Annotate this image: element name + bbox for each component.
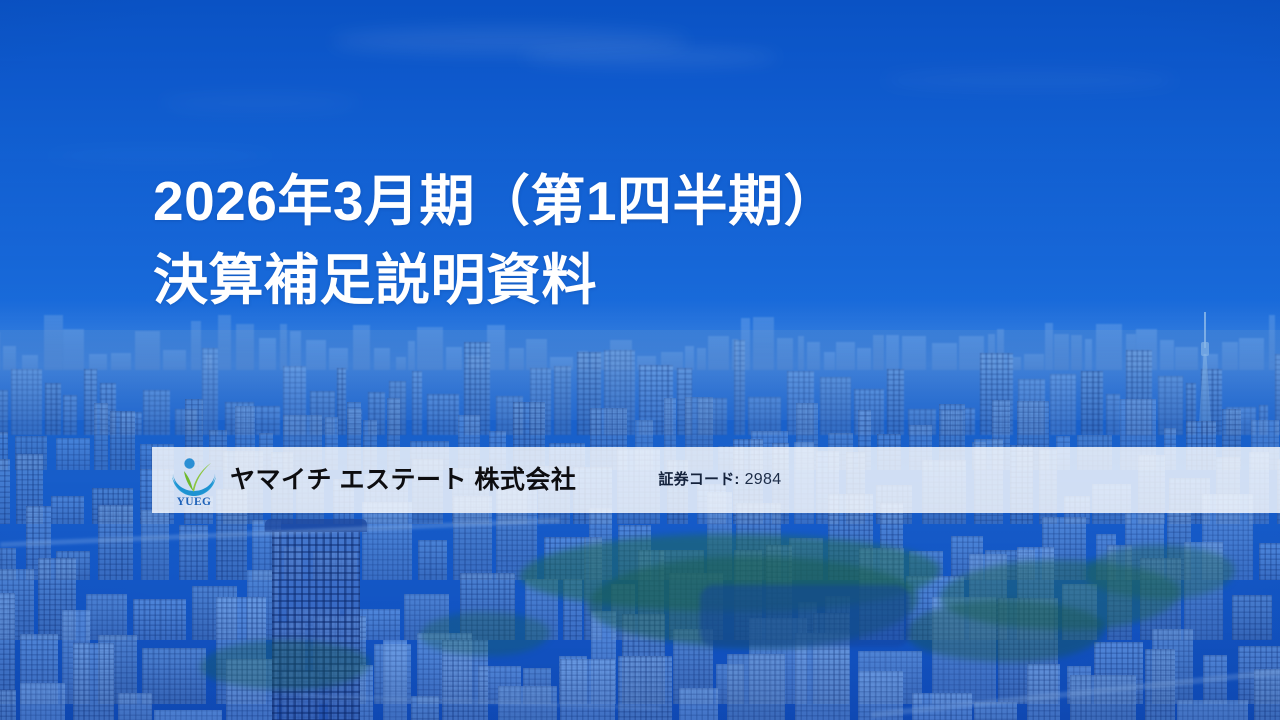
securities-code-label: 証券コード: <box>658 472 739 487</box>
building-windows <box>679 688 718 720</box>
building <box>20 683 65 720</box>
park-greenery <box>420 612 550 656</box>
building <box>362 502 412 580</box>
building <box>1232 595 1272 640</box>
building-windows <box>1259 543 1280 580</box>
building <box>94 403 108 470</box>
building-windows <box>51 496 84 524</box>
building-windows <box>418 540 447 580</box>
building-windows <box>133 599 186 640</box>
building-windows <box>1177 700 1248 720</box>
park-greenery <box>905 600 1105 662</box>
building-windows <box>56 438 90 470</box>
building-windows <box>0 459 10 524</box>
building-windows <box>86 594 127 640</box>
building <box>0 593 15 704</box>
building-windows <box>272 530 360 720</box>
cloud-wisp <box>880 70 1180 90</box>
building-windows <box>383 640 407 720</box>
background-cityscape-image <box>0 0 1280 720</box>
building-windows <box>0 593 15 704</box>
building <box>51 496 84 524</box>
building-windows <box>110 411 135 470</box>
building-windows <box>1070 675 1136 720</box>
building <box>727 654 785 720</box>
building <box>679 688 718 720</box>
park-field <box>700 585 910 647</box>
svg-text:YUEG: YUEG <box>177 496 212 508</box>
page-title: 2026年3月期（第1四半期） 決算補足説明資料 <box>153 162 1053 320</box>
building-windows <box>1232 595 1272 640</box>
building <box>1177 700 1248 720</box>
securities-code-value: 2984 <box>745 472 782 488</box>
building <box>133 599 186 640</box>
title-line-1: 2026年3月期（第1四半期） <box>153 162 1053 241</box>
building <box>73 643 114 720</box>
building-windows <box>20 683 65 720</box>
building <box>1259 543 1280 580</box>
building-windows <box>94 403 108 470</box>
building-windows <box>560 659 615 720</box>
park-greenery <box>1085 545 1235 599</box>
building-windows <box>141 510 169 580</box>
footer-band: YUEG ヤマイチ エステート 株式会社 証券コード: 2984 <box>152 447 1280 513</box>
cloud-wisp <box>160 96 360 110</box>
company-name: ヤマイチ エステート 株式会社 <box>230 468 576 493</box>
securities-code: 証券コード: 2984 <box>658 472 781 488</box>
building <box>154 710 222 720</box>
building <box>418 540 447 580</box>
title-line-2: 決算補足説明資料 <box>153 241 1053 320</box>
building <box>110 411 135 470</box>
building-windows <box>118 693 152 720</box>
building-windows <box>154 710 222 720</box>
cloud-wisp <box>40 150 280 162</box>
building <box>618 656 672 720</box>
building <box>560 659 615 720</box>
building <box>56 438 90 470</box>
building-windows <box>0 690 16 720</box>
building <box>118 693 152 720</box>
yueg-logo: YUEG <box>166 452 222 508</box>
building <box>383 640 407 720</box>
building-windows <box>727 654 785 720</box>
building-windows <box>73 643 114 720</box>
building <box>1070 675 1136 720</box>
cloud-wisp <box>520 48 780 66</box>
building-windows <box>362 502 412 580</box>
building <box>141 510 169 580</box>
title-slide: 2026年3月期（第1四半期） 決算補足説明資料 YUEG ヤマイチ エステート… <box>0 0 1280 720</box>
building <box>0 690 16 720</box>
building <box>86 594 127 640</box>
building <box>0 459 10 524</box>
building-windows <box>618 656 672 720</box>
park-greenery <box>200 640 370 690</box>
landmark-highrise <box>272 530 360 720</box>
